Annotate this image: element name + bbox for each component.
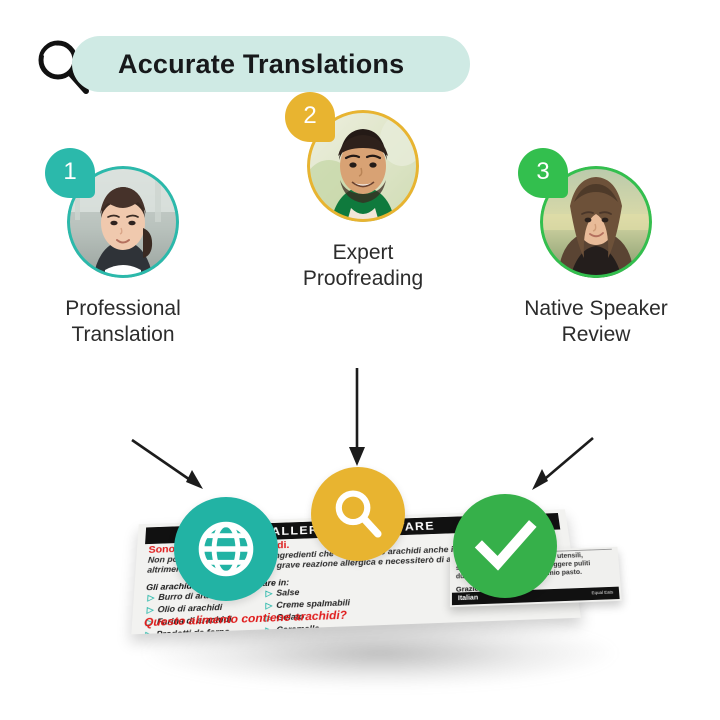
step-number-3: 3 <box>536 158 549 186</box>
step-caption-2: Expert Proofreading <box>303 240 423 291</box>
avatar-wrap-3: 3 <box>540 166 652 278</box>
magnifier-icon <box>311 467 405 561</box>
page-title: Accurate Translations <box>118 49 404 80</box>
arrow-line-3 <box>540 438 593 483</box>
check-icon <box>453 494 557 598</box>
globe-icon <box>174 497 278 601</box>
step-number-badge-1: 1 <box>45 148 95 198</box>
step-number-badge-3: 3 <box>518 148 568 198</box>
step-number-1: 1 <box>63 158 76 186</box>
step-3-native-speaker-review: 3 Native Speaker Review <box>498 166 694 347</box>
avatar-wrap-1: 1 <box>67 166 179 278</box>
step-1-professional-translation: 1 Professional Translation <box>28 166 218 347</box>
header-banner: Accurate Translations <box>72 36 470 92</box>
step-number-badge-2: 2 <box>285 92 335 142</box>
step-caption-3: Native Speaker Review <box>524 296 668 347</box>
infographic-canvas: Accurate Translations <box>0 0 720 720</box>
arrow-head-2 <box>349 447 365 466</box>
step-caption-1: Professional Translation <box>65 296 181 347</box>
avatar-wrap-2: 2 <box>307 110 419 222</box>
panel-brand-label: Equal Eats <box>591 591 613 596</box>
step-2-expert-proofreading: 2 Expert Proofreading <box>268 110 458 291</box>
panel-language-label: Italian <box>458 595 478 602</box>
step-number-2: 2 <box>303 102 316 130</box>
